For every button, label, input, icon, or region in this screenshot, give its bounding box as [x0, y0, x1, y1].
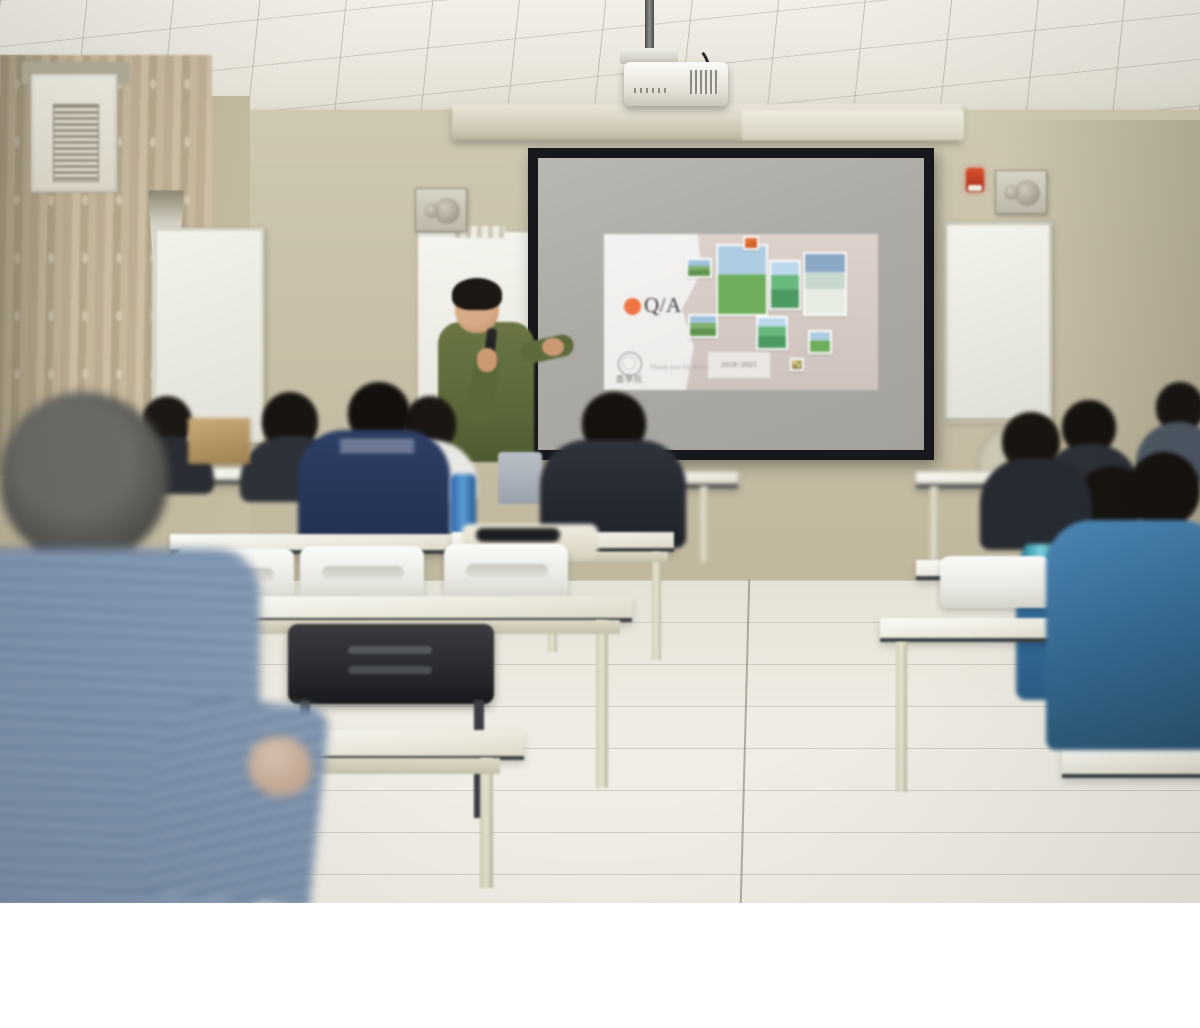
window-air-conditioner	[30, 73, 118, 193]
desk-leg	[896, 642, 907, 792]
whiteboard-right	[944, 222, 1052, 422]
shirt-print	[340, 438, 414, 452]
projector-vent-grill	[690, 70, 718, 94]
presenter-left-hand	[477, 348, 497, 372]
collage-photo	[716, 244, 768, 316]
wall-speaker-left	[415, 188, 467, 232]
collage-photo	[808, 330, 832, 354]
presenter-right-hand	[542, 338, 564, 356]
wall-speaker-right	[995, 170, 1047, 214]
chair-slot	[322, 566, 404, 580]
presenter-jeans	[498, 452, 542, 504]
presenter-hair	[452, 278, 502, 310]
ceiling-projector	[624, 62, 728, 106]
collage-photo	[803, 252, 847, 316]
desk-leg	[700, 486, 708, 562]
slide-org-logo-icon	[618, 352, 642, 376]
chair-slot	[466, 564, 548, 578]
chair-slot	[348, 666, 432, 674]
cardboard-box	[188, 418, 250, 464]
emergency-light	[966, 168, 984, 192]
collage-photo	[743, 236, 759, 250]
collage-photo	[686, 258, 712, 278]
foreground-student-arm	[140, 692, 330, 903]
collage-photo	[769, 260, 801, 310]
photo-canvas: Q/A 農學院 Thank you for listening 2018~202…	[0, 0, 1200, 903]
chair-dark	[288, 624, 494, 704]
aircon-vents	[53, 104, 99, 182]
ceiling-beam-secondary	[742, 110, 964, 140]
desk-leg	[930, 486, 938, 562]
chair	[940, 556, 1050, 608]
desk	[1062, 748, 1200, 778]
bag-strap	[476, 528, 560, 542]
projector-status-leds	[634, 88, 668, 93]
chair-slot	[348, 646, 432, 654]
slide-years-label: 2018~2025	[708, 352, 770, 378]
photo-footer-bar: vivo V50 ZEISS 50mm f/2.8 1/50s ISO419 2…	[0, 903, 1200, 1028]
desk-leg	[596, 620, 608, 788]
collage-photo	[790, 358, 804, 371]
speaker-tweeter-icon	[1004, 185, 1019, 200]
slide-title: Q/A	[644, 293, 682, 318]
screenshot-frame: Q/A 農學院 Thank you for listening 2018~202…	[0, 0, 1200, 1028]
presentation-slide: Q/A 農學院 Thank you for listening 2018~202…	[604, 234, 878, 390]
collage-photo	[688, 314, 718, 338]
slide-org-caption: 農學院	[616, 374, 643, 385]
desk-leg	[652, 552, 661, 660]
desk-leg	[480, 758, 493, 888]
collage-photo	[756, 316, 788, 350]
speaker-tweeter-icon	[424, 203, 439, 218]
slide-bullet-dot-icon	[624, 298, 641, 315]
projector-mount-rod	[645, 0, 654, 52]
foreground-student-hand	[248, 736, 312, 796]
